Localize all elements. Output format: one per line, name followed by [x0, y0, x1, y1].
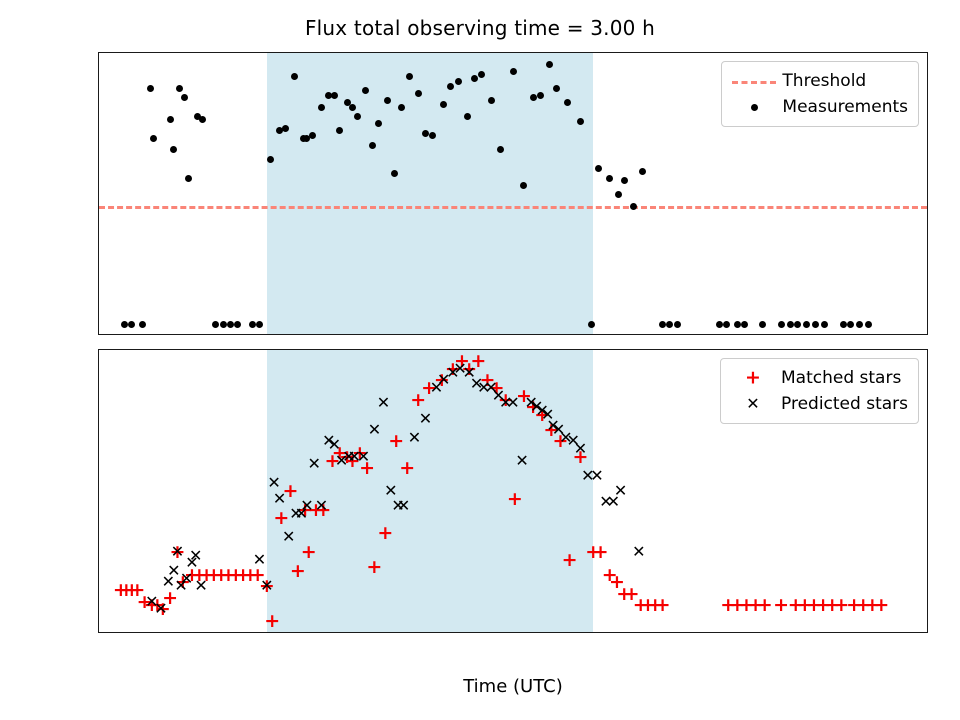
- matched-star-point: +: [757, 597, 773, 613]
- matched-star-point: +: [873, 597, 889, 613]
- measurement-point: [794, 321, 801, 328]
- x-tick-mark: [905, 632, 906, 633]
- x-tick-mark: [139, 334, 140, 335]
- y-tick-mark: [98, 552, 99, 553]
- measurement-point: [318, 104, 325, 111]
- measurement-point: [674, 321, 681, 328]
- matched-star-point: +: [264, 613, 280, 629]
- predicted-star-point: ✕: [396, 498, 412, 514]
- measurement-point: [227, 321, 234, 328]
- matched-star-point: +: [399, 460, 415, 476]
- measurement-point: [455, 78, 462, 85]
- y-tick-mark: [98, 476, 99, 477]
- predicted-star-point: ✕: [281, 529, 297, 545]
- measurement-point: [234, 321, 241, 328]
- measurement-point: [331, 92, 338, 99]
- observing-window-span: [267, 53, 593, 334]
- x-tick-mark: [139, 632, 140, 633]
- measurement-point: [147, 85, 154, 92]
- predicted-star-point: ✕: [631, 544, 647, 560]
- predicted-star-point: ✕: [299, 498, 315, 514]
- predicted-star-point: ✕: [613, 483, 629, 499]
- legend-label-predicted-stars: Predicted stars: [777, 394, 908, 414]
- x-axis-label: Time (UTC): [98, 676, 928, 697]
- measurement-point: [121, 321, 128, 328]
- measurement-point: [170, 146, 177, 153]
- measurement-point: [256, 321, 263, 328]
- measurement-point: [391, 170, 398, 177]
- x-tick-mark: [686, 632, 687, 633]
- measurement-point: [537, 92, 544, 99]
- matched-star-point: +: [655, 597, 671, 613]
- predicted-star-point: ✕: [272, 491, 288, 507]
- measurement-point: [309, 132, 316, 139]
- matched-star-point: +: [273, 510, 289, 526]
- bottom-panel-axes: ++++++++++++++++++++++++++++++++++++++++…: [98, 349, 928, 633]
- measurement-point: [778, 321, 785, 328]
- x-tick-mark: [358, 632, 359, 633]
- x-tick-mark: [796, 632, 797, 633]
- legend-item-measurements[interactable]: Measurements: [730, 94, 908, 120]
- predicted-star-point: ✕: [355, 449, 371, 465]
- measurement-point: [398, 104, 405, 111]
- y-tick-mark: [98, 136, 99, 137]
- matched-star-point: +: [377, 525, 393, 541]
- predicted-star-point: ✕: [589, 468, 605, 484]
- y-tick-mark: [98, 628, 99, 629]
- page-title: Flux total observing time = 3.00 h: [0, 16, 960, 40]
- measurement-point: [606, 175, 613, 182]
- predicted-star-point: ✕: [514, 453, 530, 469]
- measurement-point: [362, 87, 369, 94]
- measurement-point: [530, 94, 537, 101]
- predicted-star-point: ✕: [314, 498, 330, 514]
- y-tick-mark: [98, 230, 99, 231]
- matched-star-point: +: [301, 544, 317, 560]
- measurement-point: [384, 97, 391, 104]
- measurement-point: [128, 321, 135, 328]
- x-tick-mark: [577, 334, 578, 335]
- legend-label-threshold: Threshold: [778, 71, 866, 91]
- measurement-point: [787, 321, 794, 328]
- measurement-point: [181, 94, 188, 101]
- y-tick-mark: [98, 400, 99, 401]
- matched-star-point: +: [593, 544, 609, 560]
- dot-marker-icon: [730, 96, 778, 118]
- predicted-star-point: ✕: [259, 578, 275, 594]
- measurement-point: [621, 177, 628, 184]
- measurement-point: [812, 321, 819, 328]
- measurement-point: [220, 321, 227, 328]
- matched-star-point: +: [562, 552, 578, 568]
- x-tick-mark: [249, 334, 250, 335]
- matched-star-point: +: [366, 559, 382, 575]
- measurement-point: [659, 321, 666, 328]
- measurement-point: [510, 68, 517, 75]
- measurement-point: [139, 321, 146, 328]
- measurement-point: [497, 146, 504, 153]
- x-tick-mark: [905, 334, 906, 335]
- figure-canvas: Flux total observing time = 3.00 h 0.00.…: [0, 0, 960, 720]
- measurement-point: [615, 191, 622, 198]
- predicted-star-point: ✕: [407, 430, 423, 446]
- legend-label-matched-stars: Matched stars: [777, 368, 901, 388]
- legend-item-threshold[interactable]: Threshold: [730, 68, 908, 94]
- measurement-point: [759, 321, 766, 328]
- predicted-star-point: ✕: [505, 395, 521, 411]
- measurement-point: [741, 321, 748, 328]
- legend-item-matched-stars[interactable]: + Matched stars: [729, 365, 908, 391]
- y-tick-mark: [98, 88, 99, 89]
- predicted-star-point: ✕: [251, 552, 267, 568]
- measurement-point: [716, 321, 723, 328]
- measurement-point: [630, 203, 637, 210]
- measurement-point: [803, 321, 810, 328]
- measurement-point: [847, 321, 854, 328]
- measurement-point: [577, 118, 584, 125]
- threshold-line: [99, 206, 927, 209]
- measurement-point: [415, 90, 422, 97]
- measurement-point: [865, 321, 872, 328]
- measurement-point: [282, 125, 289, 132]
- x-tick-mark: [467, 632, 468, 633]
- x-tick-mark: [796, 334, 797, 335]
- bottom-legend: + Matched stars ✕ Predicted stars: [720, 358, 919, 424]
- x-tick-mark: [686, 334, 687, 335]
- predicted-star-point: ✕: [306, 456, 322, 472]
- measurement-point: [821, 321, 828, 328]
- measurement-point: [150, 135, 157, 142]
- measurement-point: [375, 120, 382, 127]
- measurement-point: [199, 116, 206, 123]
- measurement-point: [406, 73, 413, 80]
- measurement-point: [349, 104, 356, 111]
- cross-marker-icon: ✕: [729, 393, 777, 415]
- predicted-star-point: ✕: [572, 441, 588, 457]
- predicted-star-point: ✕: [188, 548, 204, 564]
- matched-star-point: +: [507, 491, 523, 507]
- dashed-line-icon: [730, 70, 778, 92]
- measurement-point: [212, 321, 219, 328]
- predicted-star-point: ✕: [179, 571, 195, 587]
- top-legend: Threshold Measurements: [721, 61, 919, 127]
- y-tick-mark: [98, 277, 99, 278]
- x-tick-mark: [358, 334, 359, 335]
- x-tick-mark: [249, 632, 250, 633]
- measurement-point: [369, 142, 376, 149]
- matched-star-point: +: [290, 563, 306, 579]
- measurement-point: [185, 175, 192, 182]
- measurement-point: [595, 165, 602, 172]
- measurement-point: [840, 321, 847, 328]
- y-tick-mark: [98, 325, 99, 326]
- legend-item-predicted-stars[interactable]: ✕ Predicted stars: [729, 391, 908, 417]
- measurement-point: [249, 321, 256, 328]
- x-tick-mark: [577, 632, 578, 633]
- matched-star-point: +: [388, 433, 404, 449]
- predicted-star-point: ✕: [376, 395, 392, 411]
- predicted-star-point: ✕: [193, 578, 209, 594]
- measurement-point: [267, 156, 274, 163]
- measurement-point: [488, 97, 495, 104]
- measurement-point: [856, 321, 863, 328]
- measurement-point: [167, 116, 174, 123]
- predicted-star-point: ✕: [366, 422, 382, 438]
- measurement-point: [176, 85, 183, 92]
- top-panel-axes: 0.00.20.40.60.81.0 Matched/Predicted sta…: [98, 52, 928, 335]
- x-tick-mark: [467, 334, 468, 335]
- measurement-point: [639, 168, 646, 175]
- measurement-point: [666, 321, 673, 328]
- predicted-star-point: ✕: [417, 411, 433, 427]
- measurement-point: [588, 321, 595, 328]
- measurement-point: [734, 321, 741, 328]
- measurement-point: [291, 73, 298, 80]
- measurement-point: [422, 130, 429, 137]
- plus-marker-icon: +: [729, 367, 777, 389]
- legend-label-measurements: Measurements: [778, 97, 908, 117]
- y-tick-mark: [98, 183, 99, 184]
- predicted-star-point: ✕: [153, 601, 169, 617]
- measurement-point: [723, 321, 730, 328]
